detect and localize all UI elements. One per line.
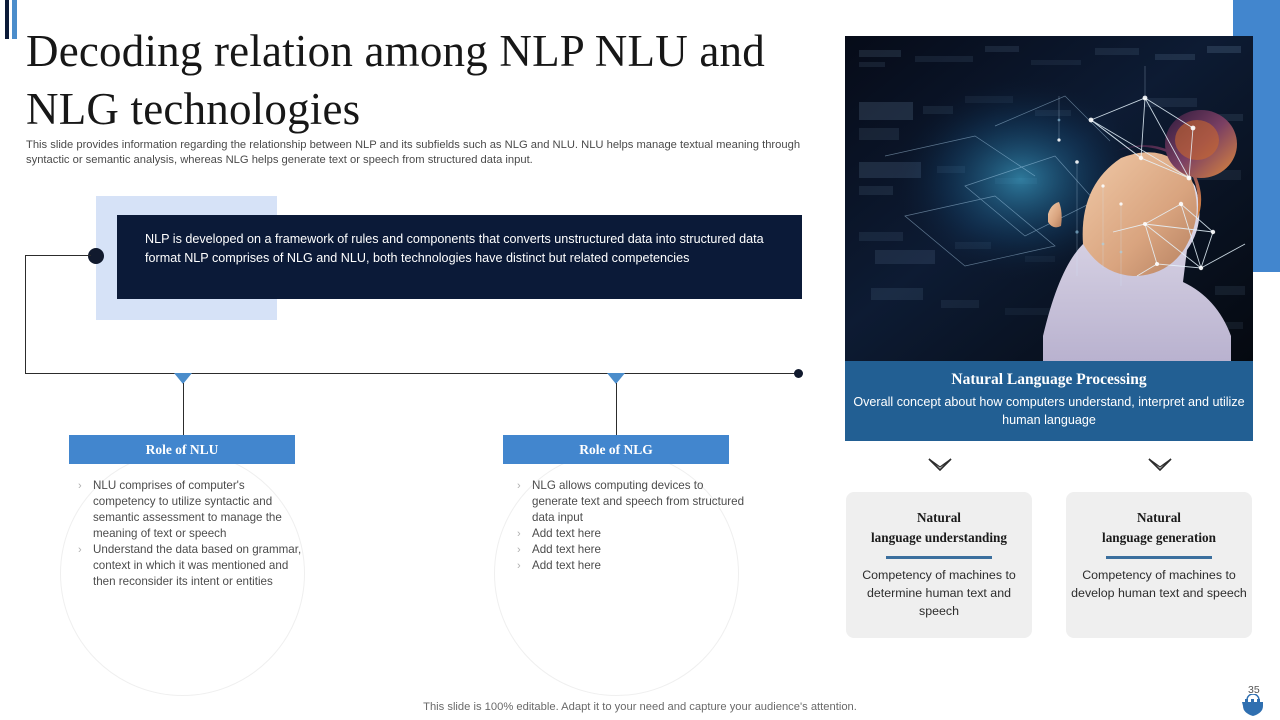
page-subtitle: This slide provides information regardin… bbox=[26, 138, 821, 168]
list-item: ›Understand the data based on grammar, c… bbox=[78, 542, 308, 590]
card-title-nlu: Natural language understanding bbox=[846, 492, 1032, 548]
accent-bar-navy bbox=[5, 0, 9, 39]
chevron-right-icon: › bbox=[78, 478, 93, 494]
connector-line-vertical bbox=[25, 255, 26, 374]
connector-drop-line-2 bbox=[616, 383, 617, 435]
bullet-list-nlg: ›NLG allows computing devices to generat… bbox=[517, 478, 747, 574]
image-artwork bbox=[845, 36, 1253, 361]
chevron-right-icon: › bbox=[517, 526, 532, 542]
gear-logo-icon bbox=[1236, 694, 1270, 716]
card-title-line2: language generation bbox=[1066, 528, 1252, 548]
caption-subtitle: Overall concept about how computers unde… bbox=[845, 389, 1253, 429]
list-item-label: Add text here bbox=[532, 542, 747, 558]
info-card-nlg: Natural language generation Competency o… bbox=[1066, 492, 1252, 638]
list-item: ›Add text here bbox=[517, 542, 747, 558]
list-item-label: Add text here bbox=[532, 558, 747, 574]
accent-bar-blue bbox=[12, 0, 17, 39]
card-title-nlg: Natural language generation bbox=[1066, 492, 1252, 548]
list-item-label: Understand the data based on grammar, co… bbox=[93, 542, 308, 590]
card-body-nlg: Competency of machines to develop human … bbox=[1066, 559, 1252, 602]
info-card-nlu: Natural language understanding Competenc… bbox=[846, 492, 1032, 638]
callout-text: NLP is developed on a framework of rules… bbox=[145, 230, 785, 267]
connector-drop-line-1 bbox=[183, 383, 184, 435]
chevron-right-icon: › bbox=[517, 542, 532, 558]
list-item-label: NLG allows computing devices to generate… bbox=[532, 478, 747, 526]
list-item: ›Add text here bbox=[517, 558, 747, 574]
caption-title: Natural Language Processing bbox=[845, 361, 1253, 389]
ai-human-profile-neural-network-image bbox=[845, 36, 1253, 361]
callout-box: NLP is developed on a framework of rules… bbox=[117, 215, 802, 299]
card-title-line1: Natural bbox=[1066, 508, 1252, 528]
list-item: ›NLU comprises of computer's competency … bbox=[78, 478, 308, 542]
list-item: ›Add text here bbox=[517, 526, 747, 542]
chevron-down-icon bbox=[926, 456, 954, 474]
column-header-nlg: Role of NLG bbox=[503, 435, 729, 464]
chevron-down-icon bbox=[1146, 456, 1174, 474]
page-title: Decoding relation among NLP NLU and NLG … bbox=[26, 22, 826, 138]
chevron-right-icon: › bbox=[517, 558, 532, 574]
list-item: ›NLG allows computing devices to generat… bbox=[517, 478, 747, 526]
connector-line-top bbox=[25, 255, 91, 256]
card-title-line1: Natural bbox=[846, 508, 1032, 528]
image-caption-bar: Natural Language Processing Overall conc… bbox=[845, 361, 1253, 441]
connector-line-bottom bbox=[25, 373, 800, 374]
connector-dot-end bbox=[794, 369, 803, 378]
bullet-list-nlu: ›NLU comprises of computer's competency … bbox=[78, 478, 308, 590]
column-header-nlu: Role of NLU bbox=[69, 435, 295, 464]
chevron-right-icon: › bbox=[78, 542, 93, 558]
footer-note: This slide is 100% editable. Adapt it to… bbox=[0, 701, 1280, 713]
list-item-label: Add text here bbox=[532, 526, 747, 542]
slide-canvas: Decoding relation among NLP NLU and NLG … bbox=[0, 0, 1280, 720]
list-item-label: NLU comprises of computer's competency t… bbox=[93, 478, 308, 542]
chevron-right-icon: › bbox=[517, 478, 532, 494]
card-body-nlu: Competency of machines to determine huma… bbox=[846, 559, 1032, 620]
card-title-line2: language understanding bbox=[846, 528, 1032, 548]
